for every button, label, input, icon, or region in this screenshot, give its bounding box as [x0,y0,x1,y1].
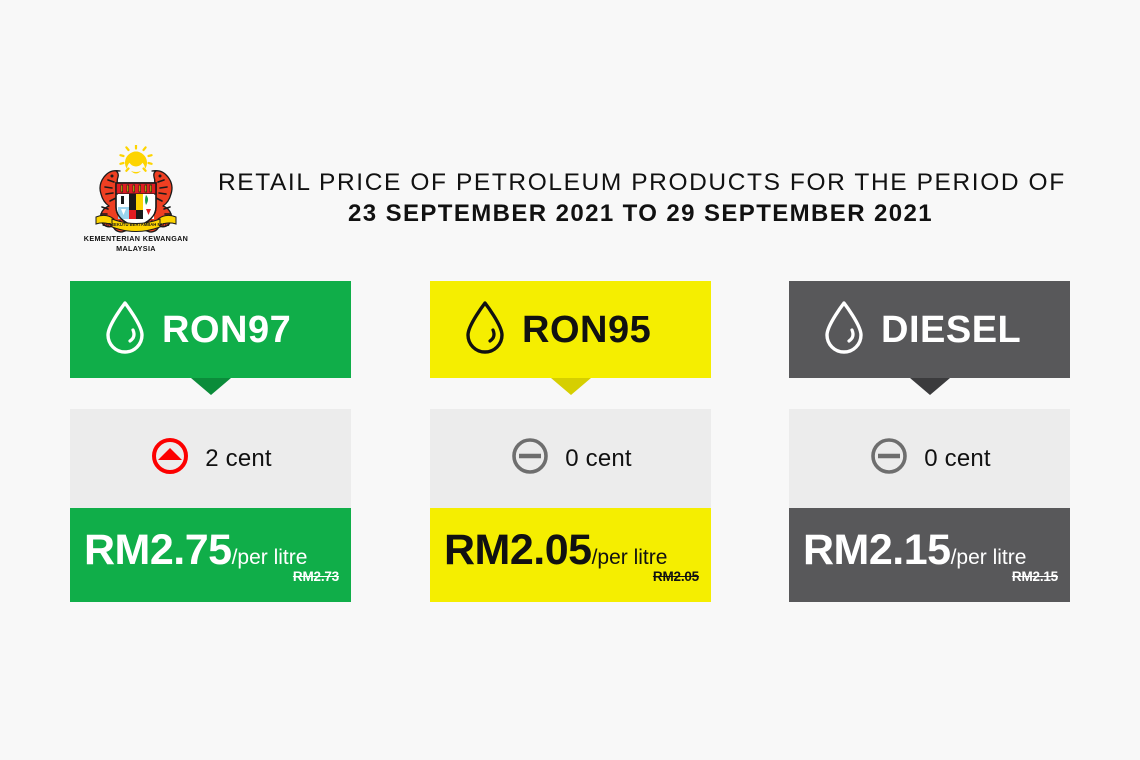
water-drop-icon [464,300,506,360]
fuel-card-ron97: RON97 2 cent RM2.75 /per litre RM2.73 [70,281,351,602]
fuel-card-ron95: RON95 0 cent RM2.05 /per litre RM2.05 [430,281,711,602]
price-increase-icon [149,435,191,482]
fuel-name-label: DIESEL [881,311,1021,349]
price-row: RM2.75 /per litre RM2.73 [70,508,351,602]
price-change-label: 2 cent [205,445,272,473]
fuel-card-header: RON97 [70,281,351,378]
previous-price: RM2.15 [1012,569,1058,584]
price-change-row: 2 cent [70,409,351,508]
previous-price: RM2.05 [653,569,699,584]
price-unchanged-icon [509,435,551,482]
current-price: RM2.15 [803,529,951,572]
price-change-label: 0 cent [924,445,991,473]
malaysia-coat-of-arms-icon: BERSEKUTU BERTAMBAH MUTU [84,145,188,233]
current-price: RM2.05 [444,529,592,572]
price-change-row: 0 cent [789,409,1070,508]
ministry-name-line1: KEMENTERIAN KEWANGAN [72,234,200,243]
water-drop-icon [104,300,146,360]
svg-text:BERSEKUTU BERTAMBAH MUTU: BERSEKUTU BERTAMBAH MUTU [102,222,169,227]
water-drop-icon [823,300,865,360]
previous-price: RM2.73 [293,569,339,584]
price-unit: /per litre [232,547,308,568]
price-change-row: 0 cent [430,409,711,508]
card-pointer-triangle [551,378,591,395]
fuel-card-diesel: DIESEL 0 cent RM2.15 /per litre RM2.15 [789,281,1070,602]
fuel-card-header: RON95 [430,281,711,378]
title-line-2: 23 SEPTEMBER 2021 TO 29 SEPTEMBER 2021 [218,198,1063,229]
title-line-1: RETAIL PRICE OF PETROLEUM PRODUCTS FOR T… [218,167,1063,198]
ministry-name-line2: MALAYSIA [72,244,200,253]
price-unit: /per litre [951,547,1027,568]
card-pointer-triangle [910,378,950,395]
card-pointer-triangle [191,378,231,395]
page-header: BERSEKUTU BERTAMBAH MUTU KEMENTERIAN KEW… [0,145,1140,255]
price-row: RM2.05 /per litre RM2.05 [430,508,711,602]
fuel-card-header: DIESEL [789,281,1070,378]
current-price: RM2.75 [84,529,232,572]
page-title: RETAIL PRICE OF PETROLEUM PRODUCTS FOR T… [218,167,1063,229]
price-unchanged-icon [868,435,910,482]
price-change-label: 0 cent [565,445,632,473]
fuel-name-label: RON95 [522,311,651,349]
ministry-logo: BERSEKUTU BERTAMBAH MUTU KEMENTERIAN KEW… [72,145,200,255]
price-unit: /per litre [592,547,668,568]
fuel-name-label: RON97 [162,311,291,349]
price-row: RM2.15 /per litre RM2.15 [789,508,1070,602]
